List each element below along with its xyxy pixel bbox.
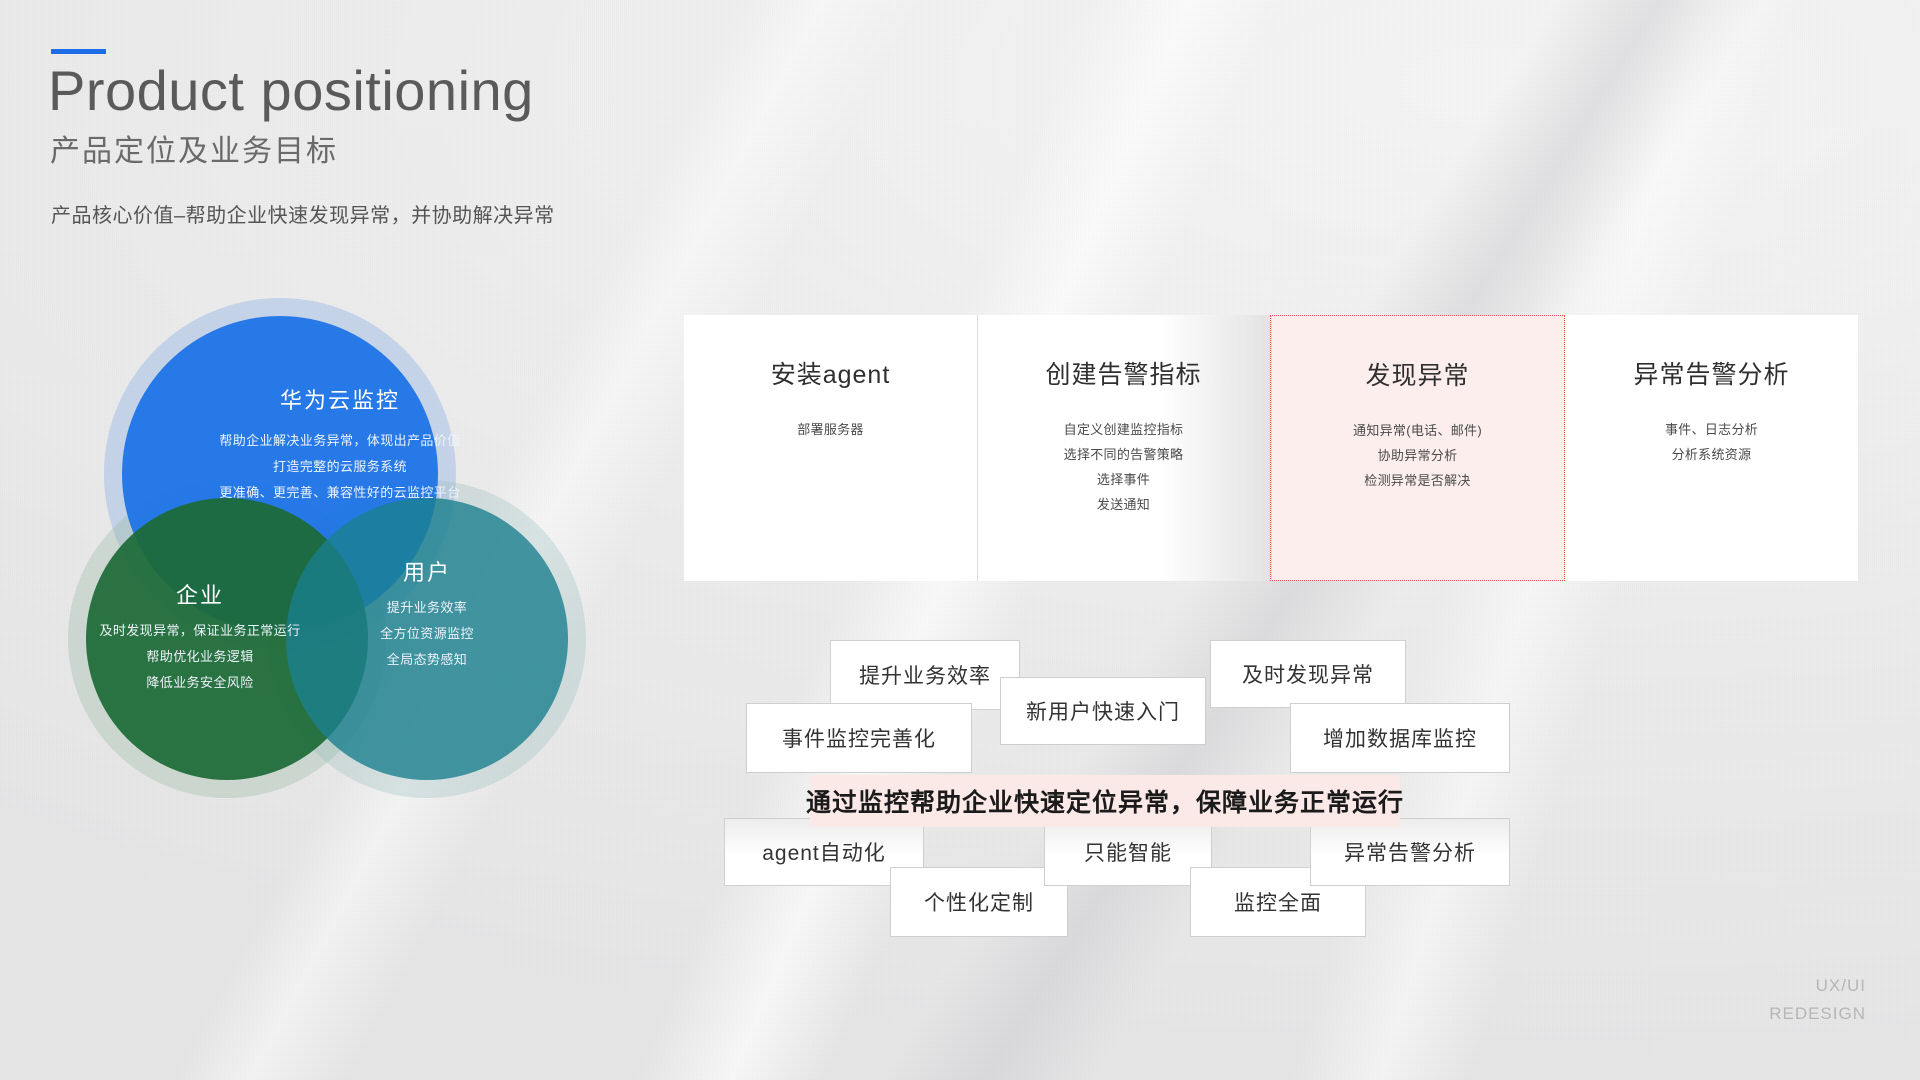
footer-line-2: REDESIGN [1769, 1000, 1866, 1028]
flow-step-title: 异常告警分析 [1633, 355, 1789, 391]
slide-canvas: Product positioning 产品定位及业务目标 产品核心价值–帮助企… [0, 0, 1920, 1080]
flow-step-item: 协助异常分析 [1353, 443, 1482, 468]
footer-credit: UX/UI REDESIGN [1769, 972, 1866, 1028]
flow-step-items: 事件、日志分析 分析系统资源 [1665, 417, 1758, 467]
venn-lines-huawei-cloud-monitor: 帮助企业解决业务异常，体现出产品价值 打造完整的云服务系统 更准确、更完善、兼容… [60, 428, 620, 506]
flow-step-install-agent[interactable]: 安装agent 部署服务器 [684, 315, 977, 581]
flow-step-anomaly-alarm-analysis[interactable]: 异常告警分析 事件、日志分析 分析系统资源 [1565, 315, 1858, 581]
flow-step-item: 自定义创建监控指标 [1064, 417, 1184, 442]
flow-step-item: 部署服务器 [797, 417, 864, 442]
venn-line: 提升业务效率 [177, 595, 677, 621]
keyword-chip[interactable]: 提升业务效率 [830, 640, 1020, 710]
flow-step-items: 通知异常(电话、邮件) 协助异常分析 检测异常是否解决 [1353, 418, 1482, 493]
venn-line: 降低业务安全风险 [0, 670, 450, 696]
highlight-banner: 通过监控帮助企业快速定位异常，保障业务正常运行 [810, 775, 1400, 827]
flow-step-item: 事件、日志分析 [1665, 417, 1758, 442]
flow-step-item: 分析系统资源 [1665, 442, 1758, 467]
flow-step-item: 通知异常(电话、邮件) [1353, 418, 1482, 443]
process-flow-panel: 安装agent 部署服务器 创建告警指标 自定义创建监控指标 选择不同的告警策略… [684, 315, 1858, 581]
keyword-chip[interactable]: 及时发现异常 [1210, 640, 1406, 708]
flow-step-item: 发送通知 [1064, 492, 1184, 517]
keyword-chip[interactable]: 个性化定制 [890, 867, 1068, 937]
keyword-chip[interactable]: 只能智能 [1044, 818, 1212, 886]
core-value-statement: 产品核心价值–帮助企业快速发现异常，并协助解决异常 [51, 199, 555, 228]
flow-step-item: 选择不同的告警策略 [1064, 442, 1184, 467]
venn-line: 帮助企业解决业务异常，体现出产品价值 [60, 428, 620, 454]
flow-step-title: 发现异常 [1365, 356, 1469, 392]
keyword-cloud: 提升业务效率 事件监控完善化 新用户快速入门 及时发现异常 增加数据库监控 ag… [690, 640, 1870, 820]
venn-line: 全方位资源监控 [177, 621, 677, 647]
flow-step-title: 创建告警指标 [1045, 355, 1201, 391]
flow-step-item: 检测异常是否解决 [1353, 468, 1482, 493]
accent-rule [51, 49, 106, 54]
page-title-chinese: 产品定位及业务目标 [50, 126, 338, 170]
keyword-chip[interactable]: 新用户快速入门 [1000, 677, 1206, 745]
flow-step-item: 选择事件 [1064, 467, 1184, 492]
flow-step-detect-anomaly[interactable]: 发现异常 通知异常(电话、邮件) 协助异常分析 检测异常是否解决 [1270, 315, 1565, 581]
keyword-chip[interactable]: 异常告警分析 [1310, 818, 1510, 886]
footer-line-1: UX/UI [1769, 972, 1866, 1000]
venn-line: 全局态势感知 [177, 647, 677, 673]
flow-step-items: 部署服务器 [797, 417, 864, 442]
flow-step-create-alarm-metric[interactable]: 创建告警指标 自定义创建监控指标 选择不同的告警策略 选择事件 发送通知 [977, 315, 1270, 581]
venn-line: 打造完整的云服务系统 [60, 454, 620, 480]
flow-step-items: 自定义创建监控指标 选择不同的告警策略 选择事件 发送通知 [1064, 417, 1184, 517]
venn-line: 更准确、更完善、兼容性好的云监控平台 [60, 480, 620, 506]
keyword-chip[interactable]: 增加数据库监控 [1290, 703, 1510, 773]
venn-lines-user: 提升业务效率 全方位资源监控 全局态势感知 [177, 595, 677, 673]
keyword-chip[interactable]: 事件监控完善化 [746, 703, 972, 773]
venn-label-huawei-cloud-monitor: 华为云监控 [60, 383, 620, 415]
venn-diagram: 华为云监控 帮助企业解决业务异常，体现出产品价值 打造完整的云服务系统 更准确、… [60, 290, 620, 800]
flow-step-title: 安装agent [771, 355, 891, 391]
page-title-english: Product positioning [48, 60, 534, 122]
venn-label-user: 用户 [177, 555, 677, 587]
